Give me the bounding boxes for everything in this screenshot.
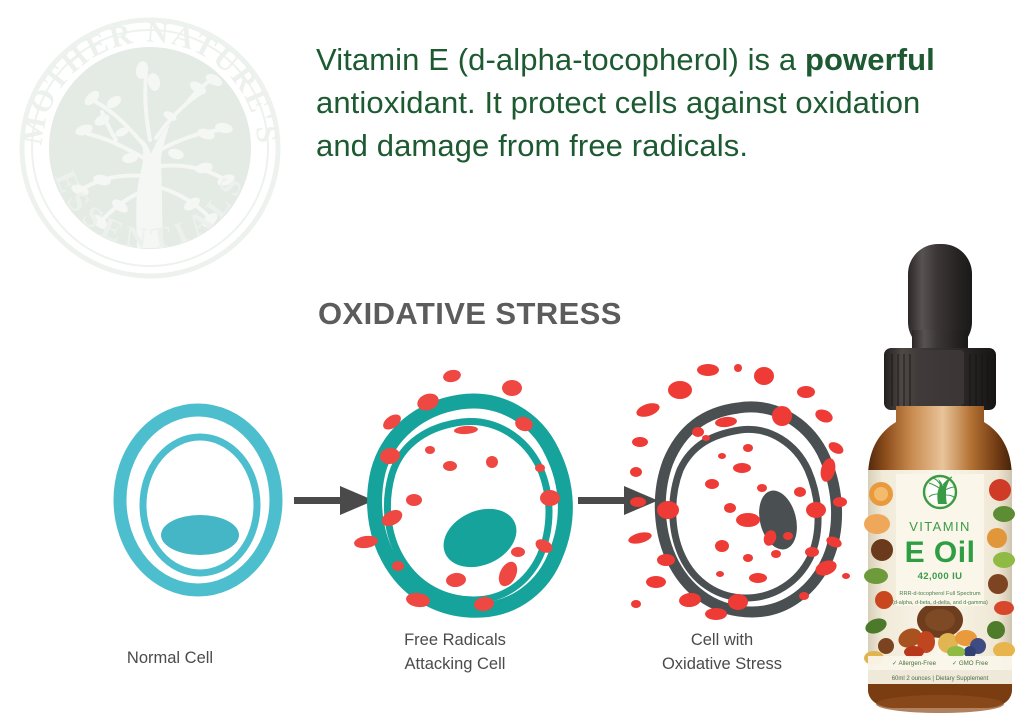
caption-cell-with-oxidative-stress: Cell with Oxidative Stress — [612, 628, 832, 676]
label-strength: 42,000 IU — [918, 571, 963, 582]
bottle-label: VITAMIN E Oil 42,000 IU RRR-d-tocopherol… — [863, 470, 1015, 684]
label-spectrum-line-1: RRR-d-tocopherol Full Spectrum — [899, 591, 980, 597]
headline-emphasis-powerful: powerful — [805, 42, 935, 77]
label-footer: 60ml 2 ounces | Dietary Supplement — [892, 676, 989, 682]
label-claim-allergen-free: ✓ Allergen-Free — [892, 660, 937, 667]
oxidative-stress-diagram: Normal Cell Free Radicals Attacking Cell… — [0, 360, 880, 700]
headline-paragraph: Vitamin E (d-alpha-tocopherol) is a powe… — [316, 38, 946, 167]
label-spectrum-line-2: (d-alpha, d-beta, d-delta, and d-gamma) — [892, 600, 988, 606]
diagram-oxidative-stress-cell — [627, 364, 850, 620]
label-title: E Oil — [905, 536, 976, 569]
brand-watermark-logo: MOTHER NATURE'S ESSENTIALS — [10, 8, 290, 280]
arrow-icon-1 — [294, 486, 374, 515]
label-claim-gmo-free: ✓ GMO Free — [952, 660, 989, 667]
diagram-normal-cell — [120, 410, 276, 590]
product-bottle-image: VITAMIN E Oil 42,000 IU RRR-d-tocopherol… — [852, 238, 1024, 716]
label-brand-logo — [924, 476, 956, 508]
diagram-free-radicals-cell — [353, 368, 565, 612]
arrow-icon-2 — [578, 486, 658, 515]
caption-free-radicals-attacking-cell: Free Radicals Attacking Cell — [345, 628, 565, 676]
section-title-oxidative-stress: OXIDATIVE STRESS — [318, 296, 622, 332]
caption-normal-cell: Normal Cell — [60, 646, 280, 670]
headline-text-lead: Vitamin E (d-alpha-tocopherol) is a — [316, 42, 805, 77]
slide-canvas: MOTHER NATURE'S ESSENTIALS Vitamin E (d-… — [0, 0, 1024, 718]
headline-text-tail: antioxidant. It protect cells against ox… — [316, 85, 920, 163]
bottle-cap — [884, 348, 996, 410]
label-kicker: VITAMIN — [909, 519, 971, 534]
